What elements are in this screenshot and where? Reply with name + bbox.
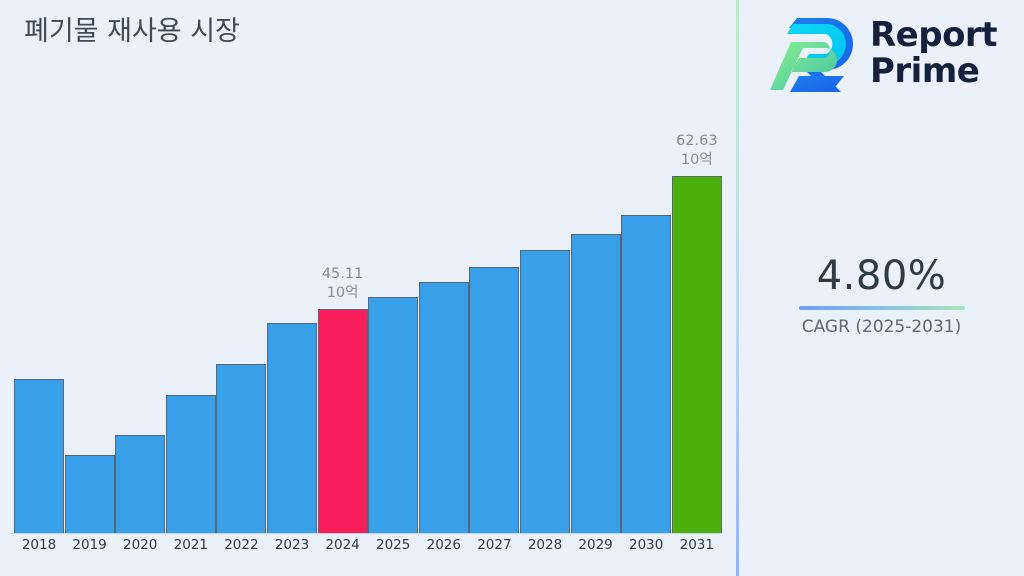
- logo-line-1: Report: [870, 17, 997, 53]
- report-prime-logo[interactable]: Report Prime: [769, 12, 1019, 94]
- bar-2019[interactable]: [65, 455, 115, 533]
- bar-value-number-2031: 62.63: [676, 132, 718, 151]
- bar-2023[interactable]: [267, 323, 317, 533]
- x-axis-tick-labels: 2018201920202021202220232024202520262027…: [0, 537, 737, 565]
- bar-2024[interactable]: [318, 309, 368, 533]
- chart-panel: 폐기물 재사용 시장 45.1110억62.6310억 201820192020…: [0, 0, 737, 576]
- bar-2021[interactable]: [166, 395, 216, 533]
- x-tick-2018: 2018: [14, 537, 64, 553]
- x-tick-2028: 2028: [520, 537, 570, 553]
- infographic-root: 폐기물 재사용 시장 45.1110억62.6310억 201820192020…: [0, 0, 1024, 576]
- x-tick-2026: 2026: [419, 537, 469, 553]
- chart-title: 폐기물 재사용 시장: [24, 9, 240, 48]
- bar-2018[interactable]: [14, 379, 64, 533]
- bar-2027[interactable]: [469, 267, 519, 533]
- bar-value-number-2024: 45.11: [322, 265, 364, 284]
- bar-value-label-2024: 45.1110억: [322, 265, 364, 303]
- x-tick-2029: 2029: [571, 537, 621, 553]
- bar-chart-plot-area: 45.1110억62.6310억: [0, 100, 737, 534]
- bar-2030[interactable]: [621, 215, 671, 533]
- x-tick-2022: 2022: [216, 537, 266, 553]
- cagr-value: 4.80%: [739, 252, 1024, 300]
- bar-2022[interactable]: [216, 364, 266, 533]
- axis-baseline: [10, 533, 722, 534]
- brand-panel: Report Prime 4.80% CAGR (2025-2031): [739, 0, 1024, 576]
- report-prime-logo-mark-icon: [769, 14, 865, 94]
- cagr-caption: CAGR (2025-2031): [739, 317, 1024, 337]
- cagr-block: 4.80% CAGR (2025-2031): [739, 252, 1024, 337]
- bar-2031[interactable]: [672, 176, 722, 533]
- x-tick-2024: 2024: [318, 537, 368, 553]
- bar-2026[interactable]: [419, 282, 469, 533]
- bar-2028[interactable]: [520, 250, 570, 533]
- x-tick-2020: 2020: [115, 537, 165, 553]
- bar-value-unit-2031: 10억: [676, 151, 718, 170]
- x-tick-2021: 2021: [166, 537, 216, 553]
- bar-2029[interactable]: [571, 234, 621, 533]
- x-tick-2025: 2025: [368, 537, 418, 553]
- x-tick-2027: 2027: [469, 537, 519, 553]
- x-tick-2023: 2023: [267, 537, 317, 553]
- x-tick-2019: 2019: [65, 537, 115, 553]
- logo-line-2: Prime: [870, 53, 997, 89]
- x-tick-2031: 2031: [672, 537, 722, 553]
- bar-value-label-2031: 62.6310억: [676, 132, 718, 170]
- logo-wordmark: Report Prime: [870, 17, 997, 89]
- x-tick-2030: 2030: [621, 537, 671, 553]
- bar-value-unit-2024: 10억: [322, 284, 364, 303]
- bar-2020[interactable]: [115, 435, 165, 533]
- bar-2025[interactable]: [368, 297, 418, 533]
- cagr-divider-rule: [799, 306, 965, 310]
